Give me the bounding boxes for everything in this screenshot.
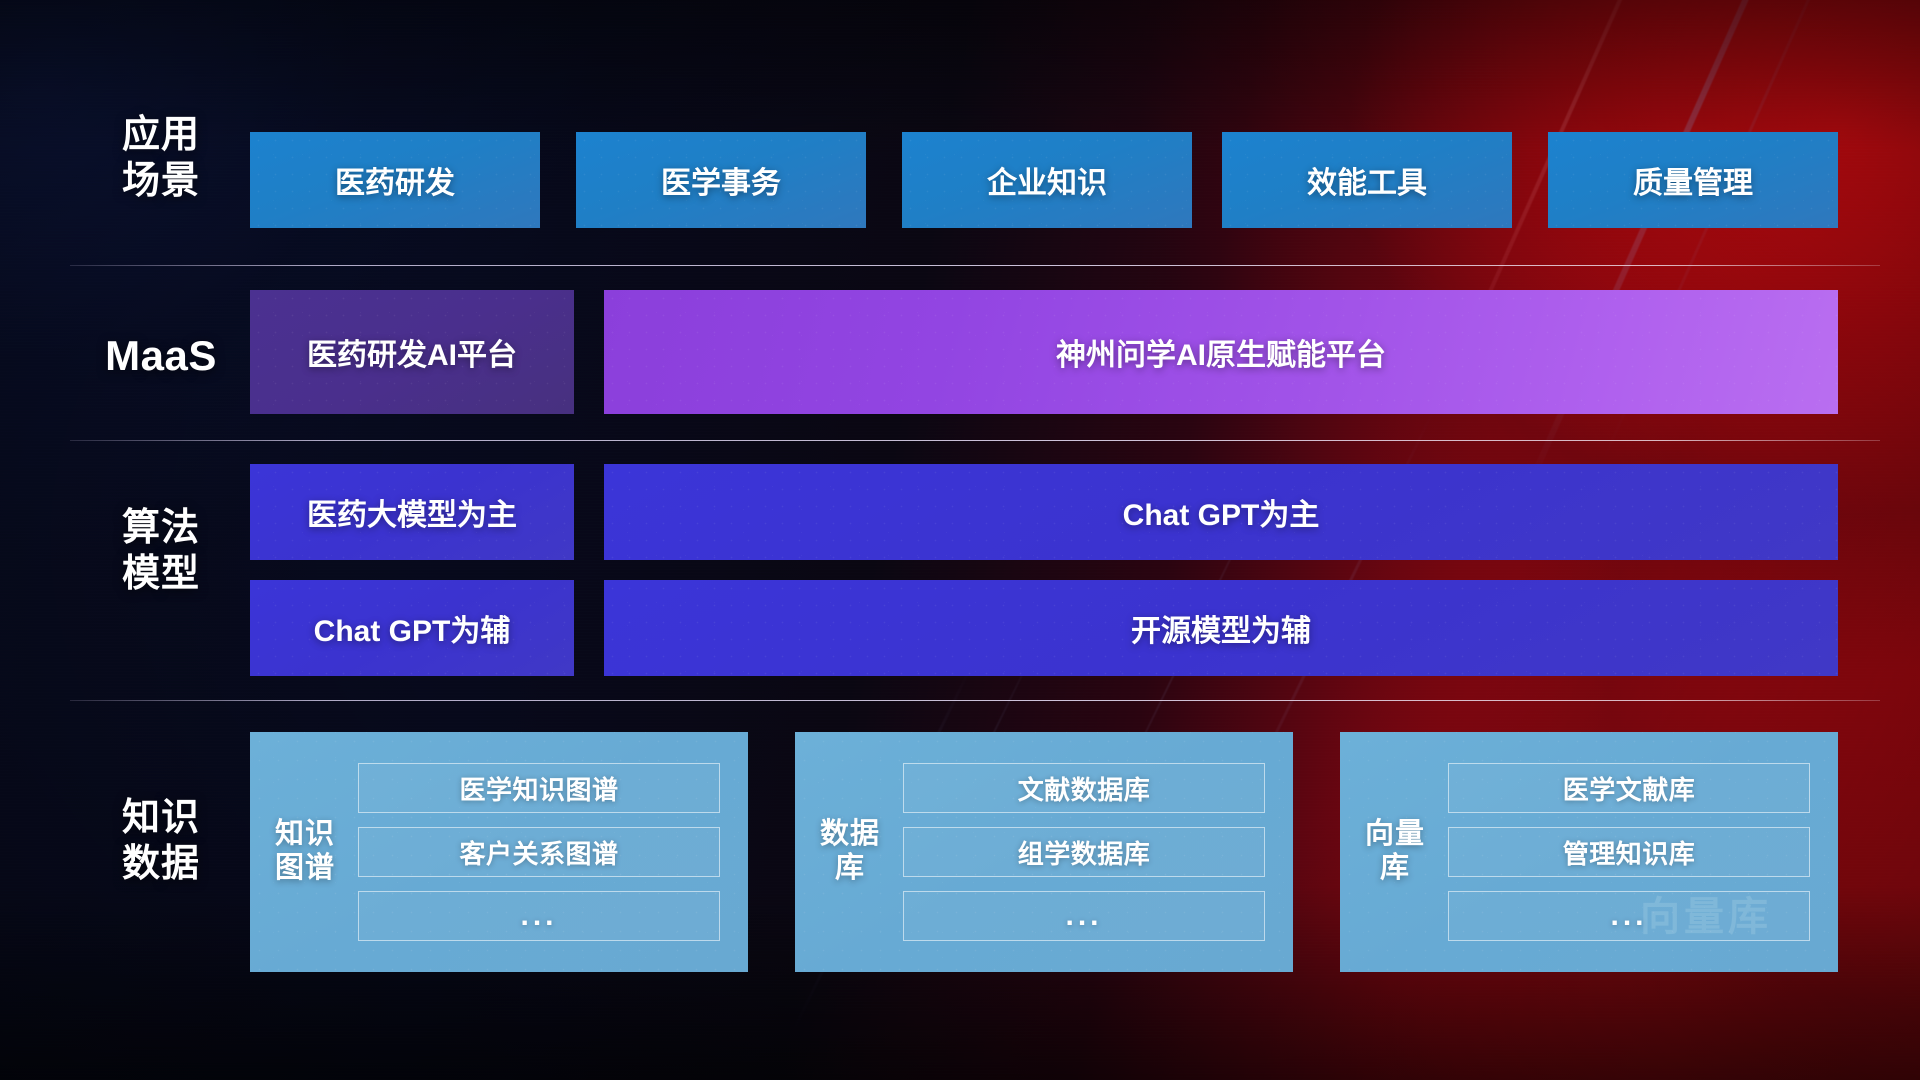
maas-platform-box-right[interactable]: 神州问学AI原生赋能平台 <box>604 290 1838 414</box>
knowledge-card-item[interactable]: 客户关系图谱 <box>358 827 720 877</box>
knowledge-card-item[interactable]: 组学数据库 <box>903 827 1265 877</box>
app-scenario-box-2[interactable]: 医学事务 <box>576 132 866 228</box>
divider-1 <box>70 265 1880 266</box>
divider-2 <box>70 440 1880 441</box>
row-label-algorithm-models: 算法 模型 <box>86 505 236 598</box>
knowledge-card-title: 知识图谱 <box>274 732 336 972</box>
knowledge-card-title: 向量库 <box>1364 732 1426 972</box>
knowledge-card-item-more[interactable]: ... <box>1448 891 1810 941</box>
knowledge-card-item-more[interactable]: ... <box>358 891 720 941</box>
divider-3 <box>70 700 1880 701</box>
row-label-application-scenarios: 应用 场景 <box>86 112 236 205</box>
diagram-stage: 应用 场景 医药研发 医学事务 企业知识 效能工具 质量管理 MaaS 医药研发… <box>0 0 1920 1080</box>
algo-model-primary-right[interactable]: Chat GPT为主 <box>604 464 1838 560</box>
app-scenario-box-1[interactable]: 医药研发 <box>250 132 540 228</box>
knowledge-card-item[interactable]: 医学文献库 <box>1448 763 1810 813</box>
app-scenario-box-3[interactable]: 企业知识 <box>902 132 1192 228</box>
knowledge-card-item-list: 文献数据库 组学数据库 ... <box>881 732 1293 972</box>
knowledge-card-knowledge-graph[interactable]: 知识图谱 医学知识图谱 客户关系图谱 ... <box>250 732 748 972</box>
knowledge-card-item[interactable]: 医学知识图谱 <box>358 763 720 813</box>
knowledge-card-item[interactable]: 文献数据库 <box>903 763 1265 813</box>
knowledge-card-title: 数据库 <box>819 732 881 972</box>
app-scenario-box-4[interactable]: 效能工具 <box>1222 132 1512 228</box>
algo-model-secondary-right[interactable]: 开源模型为辅 <box>604 580 1838 676</box>
knowledge-card-item[interactable]: 管理知识库 <box>1448 827 1810 877</box>
knowledge-card-item-list: 医学知识图谱 客户关系图谱 ... <box>336 732 748 972</box>
app-scenario-box-5[interactable]: 质量管理 <box>1548 132 1838 228</box>
maas-platform-box-left[interactable]: 医药研发AI平台 <box>250 290 574 414</box>
algo-model-secondary-left[interactable]: Chat GPT为辅 <box>250 580 574 676</box>
knowledge-card-database[interactable]: 数据库 文献数据库 组学数据库 ... <box>795 732 1293 972</box>
knowledge-card-vector-store[interactable]: 向量库 向量库 医学文献库 管理知识库 ... <box>1340 732 1838 972</box>
row-label-knowledge-data: 知识 数据 <box>86 795 236 888</box>
row-label-maas: MaaS <box>86 330 236 381</box>
knowledge-card-item-more[interactable]: ... <box>903 891 1265 941</box>
knowledge-card-item-list: 医学文献库 管理知识库 ... <box>1426 732 1838 972</box>
algo-model-primary-left[interactable]: 医药大模型为主 <box>250 464 574 560</box>
